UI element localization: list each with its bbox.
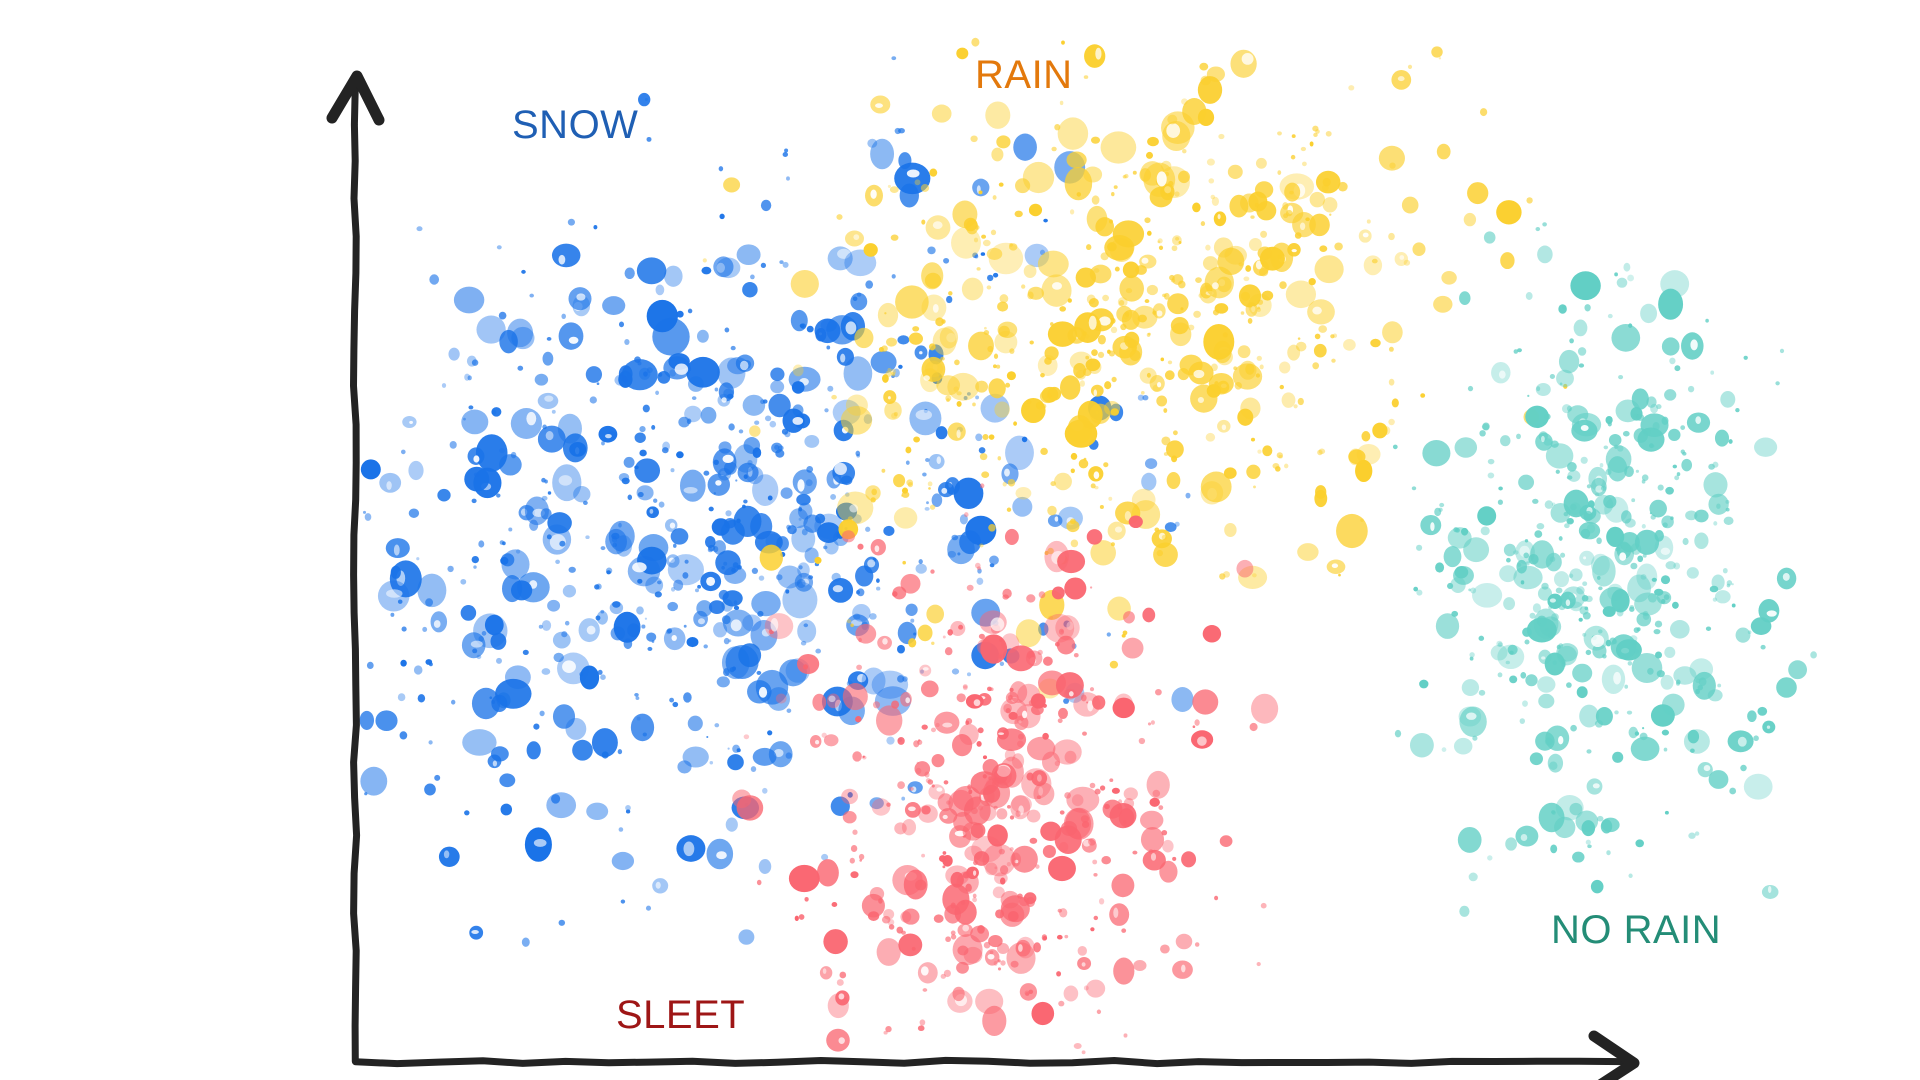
cluster-sleet: [732, 483, 1278, 1054]
cluster-label-sleet: SLEET: [616, 995, 745, 1035]
y-axis: [354, 86, 357, 1062]
x-axis: [356, 1060, 1622, 1063]
data-points-layer: [360, 38, 1817, 1054]
chart-canvas: SNOW RAIN SLEET NO RAIN: [0, 0, 1920, 1080]
cluster-label-no-rain: NO RAIN: [1551, 910, 1721, 950]
cluster-label-rain: RAIN: [975, 55, 1073, 95]
cluster-label-snow: SNOW: [512, 105, 638, 145]
cluster-no-rain: [1393, 222, 1817, 917]
